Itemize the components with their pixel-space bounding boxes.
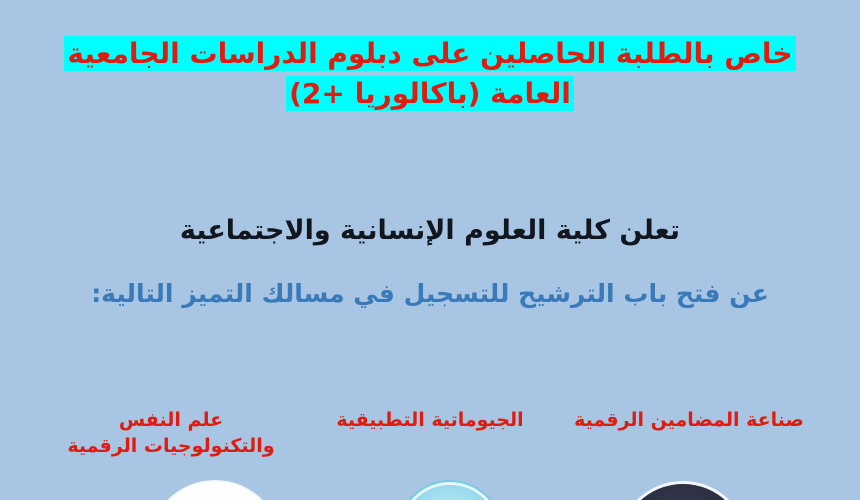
program-label: الجيوماتية التطبيقية [315,408,545,434]
header-line-2-wrapper: العامة (باكالوريا +2) [0,74,860,114]
dark-circle-icon [620,484,746,500]
announcement-text: تعلن كلية العلوم الإنسانية والاجتماعية [0,214,860,248]
header-line-2: العامة (باكالوريا +2) [286,76,574,111]
white-circle-icon [149,481,281,500]
program-item-psychology-digital-tech[interactable]: علم النفس والتكنولوجيات الرقمية [56,408,286,459]
header-line-1: خاص بالطلبة الحاصلين على دبلوم الدراسات … [64,36,795,71]
program-item-digital-content[interactable]: صناعة المضامين الرقمية [574,408,804,434]
subtitle-text: عن فتح باب الترشيح للتسجيل في مسالك التم… [0,278,860,309]
cyan-circle-icon [402,485,498,500]
program-label: صناعة المضامين الرقمية [574,408,804,434]
programs-row: صناعة المضامين الرقمية الجيوماتية التطبي… [0,408,860,459]
header-banner: خاص بالطلبة الحاصلين على دبلوم الدراسات … [0,34,860,114]
announcement-slide: خاص بالطلبة الحاصلين على دبلوم الدراسات … [0,0,860,500]
program-label: علم النفس والتكنولوجيات الرقمية [56,408,286,459]
program-item-applied-geomatics[interactable]: الجيوماتية التطبيقية [315,408,545,434]
header-line-1-wrapper: خاص بالطلبة الحاصلين على دبلوم الدراسات … [0,34,860,74]
